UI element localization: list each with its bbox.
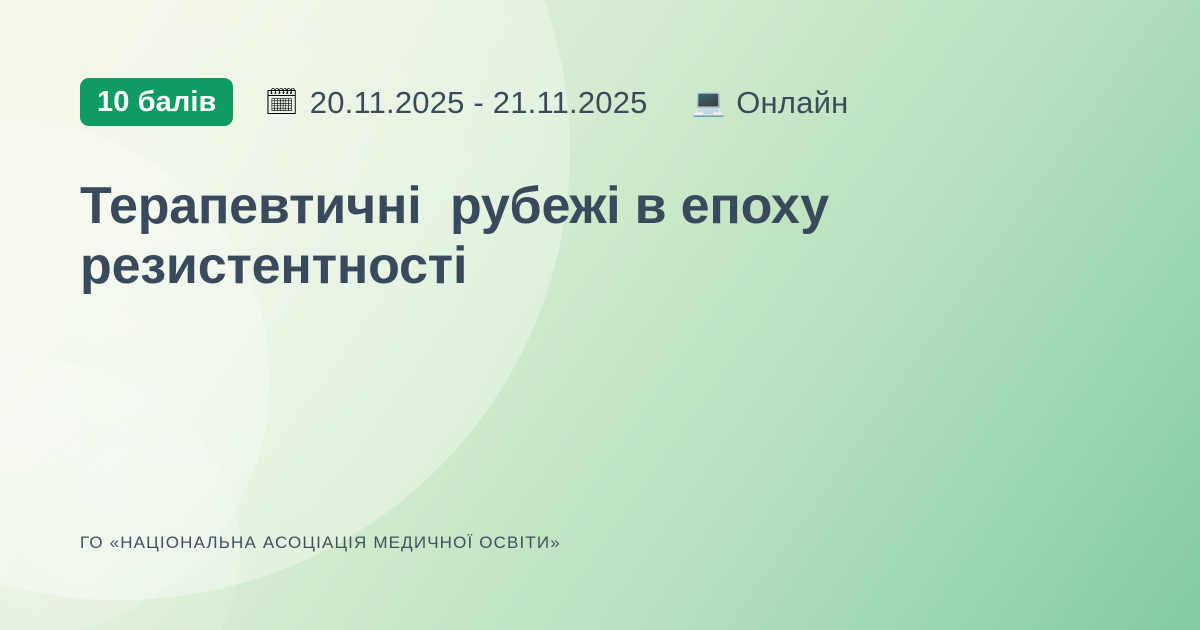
event-format: 💻 Онлайн [692, 87, 849, 118]
event-dates: 🗓 20.11.2025 - 21.11.2025 [264, 87, 647, 118]
card-content: 10 балів 🗓 20.11.2025 - 21.11.2025 💻 Онл… [0, 0, 1200, 630]
event-date-range: 20.11.2025 - 21.11.2025 [310, 87, 648, 118]
event-card: 10 балів 🗓 20.11.2025 - 21.11.2025 💻 Онл… [0, 0, 1200, 630]
laptop-icon: 💻 [692, 89, 726, 116]
event-title: Терапевтичні рубежі в епоху резистентнос… [80, 126, 890, 297]
calendar-icon: 🗓 [264, 89, 298, 116]
event-format-label: Онлайн [736, 87, 848, 118]
credits-badge: 10 балів [80, 78, 233, 126]
meta-row: 10 балів 🗓 20.11.2025 - 21.11.2025 💻 Онл… [80, 78, 1120, 126]
